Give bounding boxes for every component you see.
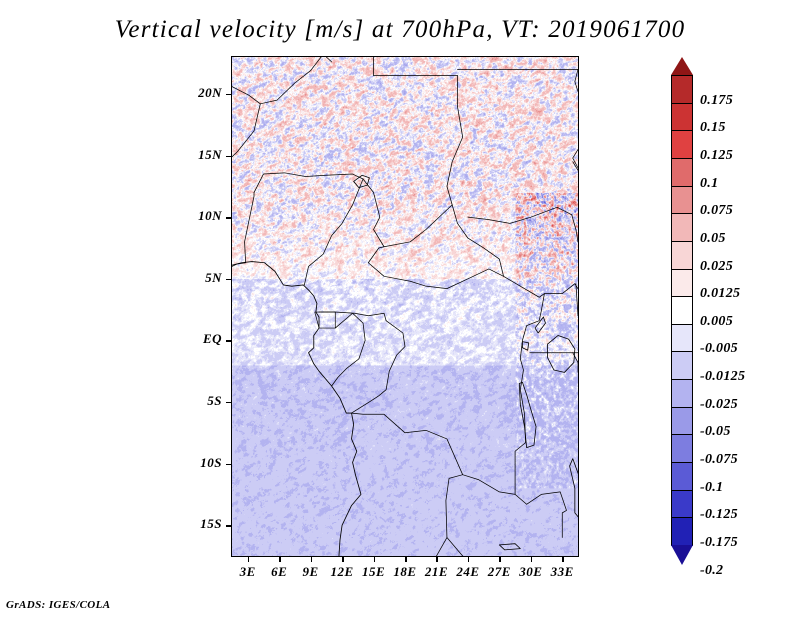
x-axis-tick — [499, 556, 501, 562]
x-axis-tick — [531, 556, 533, 562]
colorbar-tick-label: -0.2 — [700, 563, 723, 579]
y-axis-tick-label: 5N — [162, 270, 222, 286]
y-axis-tick — [226, 217, 232, 219]
colorbar-band — [671, 379, 693, 408]
colorbar-band — [671, 158, 693, 187]
y-axis-tick-label: 10N — [162, 208, 222, 224]
x-axis-tick — [279, 556, 281, 562]
colorbar-tick-label: 0.075 — [700, 203, 733, 219]
colorbar-min-arrow — [671, 545, 693, 565]
colorbar-band — [671, 324, 693, 353]
x-axis-tick-label: 33E — [542, 564, 582, 580]
x-axis-tick — [311, 556, 313, 562]
x-axis-tick — [248, 556, 250, 562]
x-axis-tick — [562, 556, 564, 562]
y-axis-tick-label: 15S — [162, 516, 222, 532]
colorbar-band — [671, 186, 693, 215]
y-axis-tick-label: 10S — [162, 455, 222, 471]
page-title: Vertical velocity [m/s] at 700hPa, VT: 2… — [0, 16, 800, 44]
y-axis-tick-label: 20N — [162, 85, 222, 101]
x-axis-tick — [405, 556, 407, 562]
x-axis-tick — [468, 556, 470, 562]
colorbar-tick-label: 0.15 — [700, 120, 726, 136]
colorbar-tick-label: -0.075 — [700, 452, 738, 468]
colorbar-tick-label: 0.005 — [700, 314, 733, 330]
colorbar — [671, 75, 693, 545]
y-axis-tick — [226, 525, 232, 527]
colorbar-band — [671, 103, 693, 132]
colorbar-tick-label: -0.1 — [700, 480, 723, 496]
x-axis-tick — [374, 556, 376, 562]
y-axis-tick-label: 5S — [162, 393, 222, 409]
colorbar-max-arrow — [671, 57, 693, 75]
y-axis-tick-label: EQ — [162, 331, 222, 347]
colorbar-tick-label: -0.0125 — [700, 369, 745, 385]
y-axis-tick — [226, 340, 232, 342]
y-axis-tick — [226, 464, 232, 466]
coastline-border-overlay — [232, 57, 578, 556]
y-axis-tick — [226, 402, 232, 404]
y-axis-tick-label: 15N — [162, 147, 222, 163]
colorbar-band — [671, 407, 693, 436]
colorbar-band — [671, 241, 693, 270]
colorbar-band — [671, 434, 693, 463]
colorbar-band — [671, 213, 693, 242]
colorbar-tick-label: -0.125 — [700, 507, 738, 523]
x-axis-tick — [436, 556, 438, 562]
y-axis-tick — [226, 156, 232, 158]
colorbar-tick-label: 0.025 — [700, 259, 733, 275]
x-axis-tick — [342, 556, 344, 562]
colorbar-tick-label: 0.175 — [700, 93, 733, 109]
colorbar-band — [671, 296, 693, 325]
colorbar-tick-label: 0.05 — [700, 231, 726, 247]
colorbar-tick-label: -0.005 — [700, 341, 738, 357]
colorbar-tick-label: 0.125 — [700, 148, 733, 164]
colorbar-band — [671, 130, 693, 159]
attribution-footer: GrADS: IGES/COLA — [6, 599, 111, 611]
colorbar-band — [671, 462, 693, 491]
y-axis-tick — [226, 279, 232, 281]
colorbar-band — [671, 490, 693, 519]
colorbar-tick-label: 0.0125 — [700, 286, 740, 302]
colorbar-band — [671, 269, 693, 298]
y-axis-tick — [226, 94, 232, 96]
colorbar-tick-label: -0.05 — [700, 424, 731, 440]
colorbar-tick-label: -0.025 — [700, 397, 738, 413]
colorbar-tick-label: 0.1 — [700, 176, 718, 192]
colorbar-band — [671, 517, 693, 546]
colorbar-band — [671, 75, 693, 104]
colorbar-tick-label: -0.175 — [700, 535, 738, 551]
map-plot-area — [232, 57, 578, 556]
colorbar-band — [671, 351, 693, 380]
